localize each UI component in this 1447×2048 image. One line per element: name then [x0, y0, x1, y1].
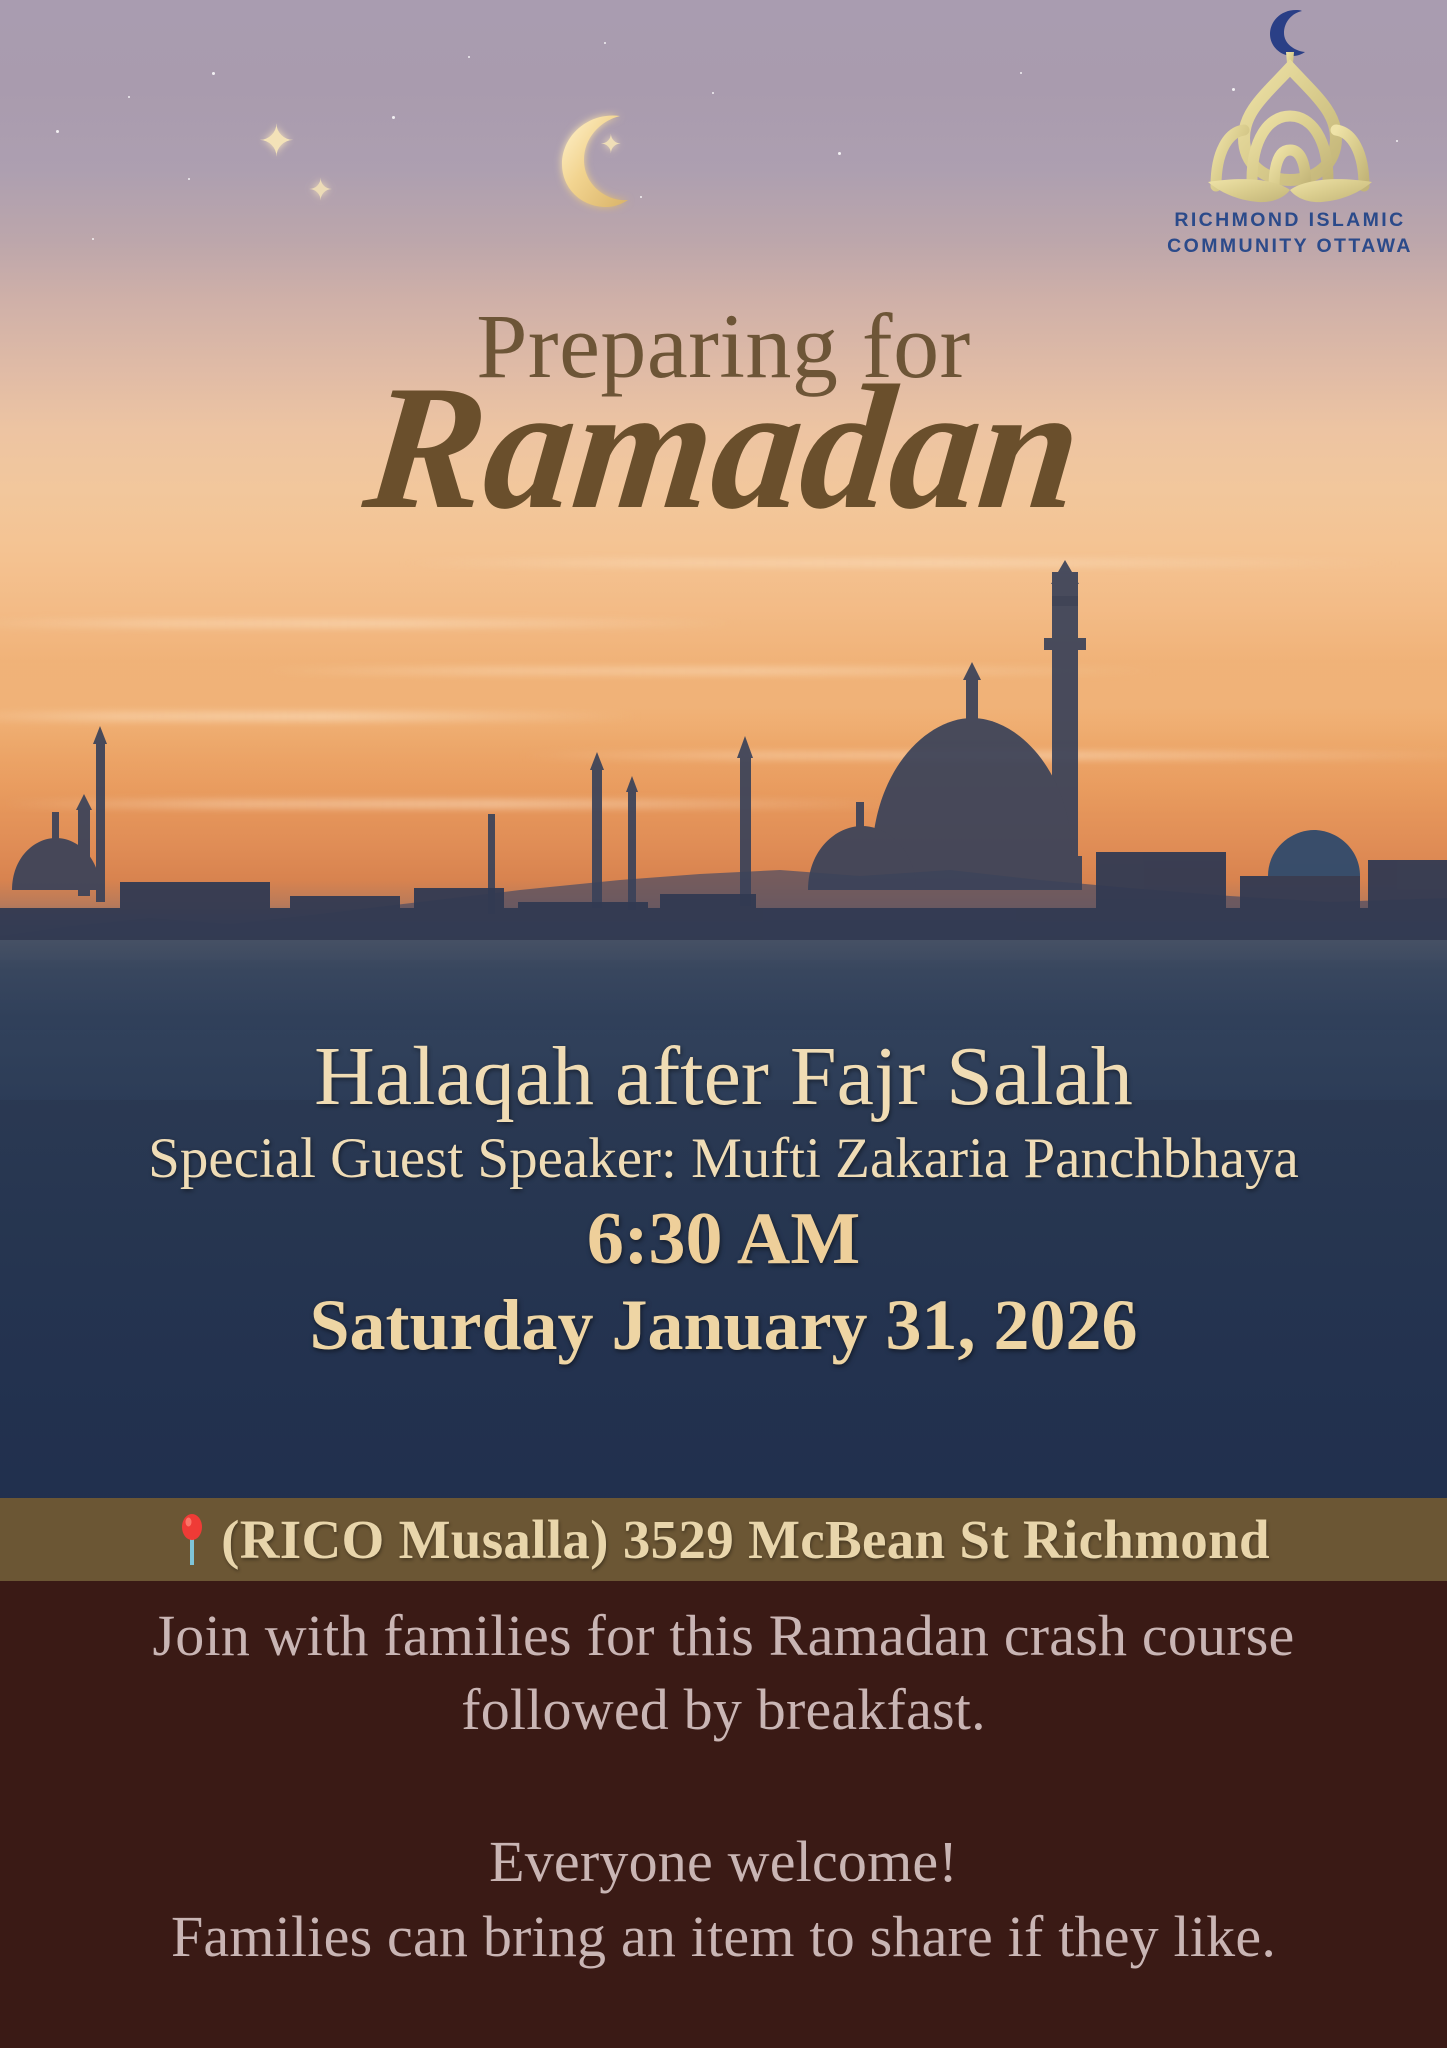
ramadan-event-poster: ✦ ✦ ✦	[0, 0, 1447, 2048]
note-line-2: followed by breakfast.	[0, 1673, 1447, 1747]
event-time: 6:30 AM	[0, 1198, 1447, 1281]
map-pin-icon	[177, 1514, 207, 1566]
event-location-bar: (RICO Musalla) 3529 McBean St Richmond	[0, 1498, 1447, 1581]
event-date: Saturday January 31, 2026	[0, 1285, 1447, 1366]
event-description: Join with families for this Ramadan cras…	[0, 1581, 1447, 2048]
event-details: Halaqah after Fajr Salah Special Guest S…	[0, 1032, 1447, 1366]
note-line-3: Everyone welcome!	[0, 1825, 1447, 1899]
sunset-sky-background	[0, 0, 1447, 1100]
event-speaker: Special Guest Speaker: Mufti Zakaria Pan…	[0, 1125, 1447, 1192]
note-line-4: Families can bring an item to share if t…	[0, 1900, 1447, 1974]
event-location-text: (RICO Musalla) 3529 McBean St Richmond	[221, 1508, 1270, 1571]
event-headline: Halaqah after Fajr Salah	[0, 1032, 1447, 1121]
note-spacer	[0, 1747, 1447, 1825]
note-line-1: Join with families for this Ramadan cras…	[0, 1599, 1447, 1673]
